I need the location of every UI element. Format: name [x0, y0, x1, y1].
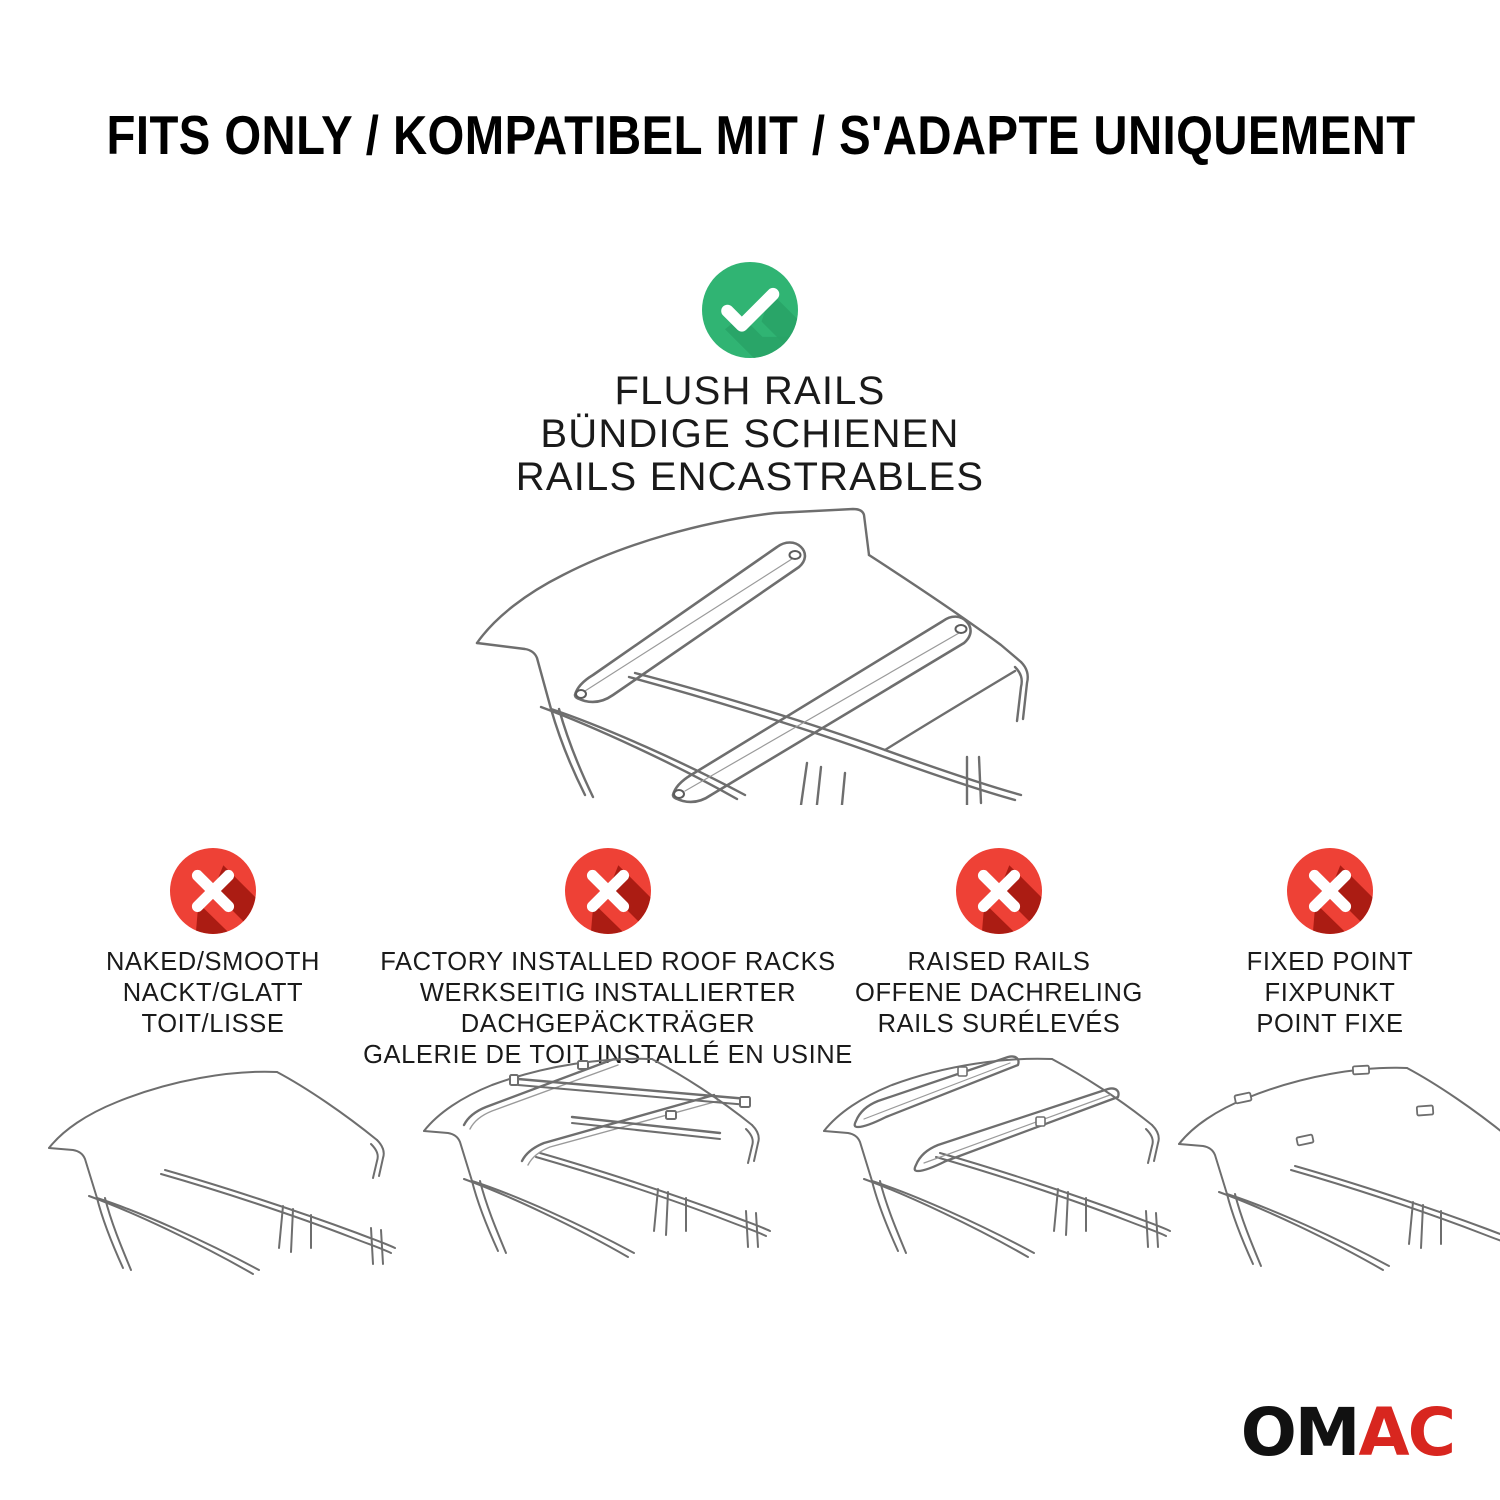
x-circle-icon [1287, 848, 1373, 934]
car-roof-flush-rails-illustration [455, 495, 1055, 805]
incompatible-item-raised-rails: RAISED RAILS OFFENE DACHRELING RAILS SUR… [840, 848, 1158, 1040]
logo-text-dark: OM [1241, 1400, 1359, 1466]
x-circle-icon [565, 848, 651, 934]
logo-text-accent: AC [1358, 1400, 1454, 1466]
incompatible-label-de-1: WERKSEITIG INSTALLIERTER [363, 978, 853, 1009]
compatible-label-fr: RAILS ENCASTRABLES [516, 456, 984, 499]
incompatible-label-fr: RAILS SURÉLEVÉS [855, 1009, 1143, 1040]
incompatible-label-group: FACTORY INSTALLED ROOF RACKS WERKSEITIG … [363, 947, 853, 1071]
omac-logo: OM AC [1241, 1400, 1454, 1466]
x-circle-icon [956, 848, 1042, 934]
car-roof-naked-smooth-illustration [45, 1058, 405, 1293]
incompatible-label-group: RAISED RAILS OFFENE DACHRELING RAILS SUR… [855, 947, 1143, 1040]
check-circle-icon [702, 262, 798, 358]
incompatible-label-en: FACTORY INSTALLED ROOF RACKS [363, 947, 853, 978]
incompatible-label-de: FIXPUNKT [1247, 978, 1414, 1009]
incompatible-label-fr: TOIT/LISSE [106, 1009, 320, 1040]
incompatible-label-de: OFFENE DACHRELING [855, 978, 1143, 1009]
incompatible-label-en: NAKED/SMOOTH [106, 947, 320, 978]
compatible-label-de: BÜNDIGE SCHIENEN [516, 413, 984, 456]
car-roof-fixed-point-illustration [1175, 1058, 1500, 1293]
compatible-label-group: FLUSH RAILS BÜNDIGE SCHIENEN RAILS ENCAS… [516, 370, 984, 498]
incompatible-label-fr: POINT FIXE [1247, 1009, 1414, 1040]
header-bar: FITS ONLY / KOMPATIBEL MIT / S'ADAPTE UN… [0, 108, 1500, 163]
incompatible-item-factory-roof-racks: FACTORY INSTALLED ROOF RACKS WERKSEITIG … [382, 848, 834, 1071]
incompatible-item-naked-smooth: NAKED/SMOOTH NACKT/GLATT TOIT/LISSE [48, 848, 378, 1040]
incompatible-label-group: FIXED POINT FIXPUNKT POINT FIXE [1247, 947, 1414, 1040]
incompatible-label-de: NACKT/GLATT [106, 978, 320, 1009]
incompatible-label-de-2: DACHGEPÄCKTRÄGER [363, 1009, 853, 1040]
car-roof-factory-roof-racks-illustration [420, 1055, 780, 1290]
incompatible-label-en: FIXED POINT [1247, 947, 1414, 978]
page-title: FITS ONLY / KOMPATIBEL MIT / S'ADAPTE UN… [107, 108, 1416, 163]
incompatible-label-group: NAKED/SMOOTH NACKT/GLATT TOIT/LISSE [106, 947, 320, 1040]
compatible-section: FLUSH RAILS BÜNDIGE SCHIENEN RAILS ENCAS… [0, 262, 1500, 498]
incompatible-item-fixed-point: FIXED POINT FIXPUNKT POINT FIXE [1180, 848, 1480, 1040]
car-roof-raised-rails-illustration [820, 1055, 1180, 1290]
x-circle-icon [170, 848, 256, 934]
incompatible-label-en: RAISED RAILS [855, 947, 1143, 978]
incompatible-section: NAKED/SMOOTH NACKT/GLATT TOIT/LISSE FACT… [0, 848, 1500, 1071]
compatible-label-en: FLUSH RAILS [516, 370, 984, 413]
